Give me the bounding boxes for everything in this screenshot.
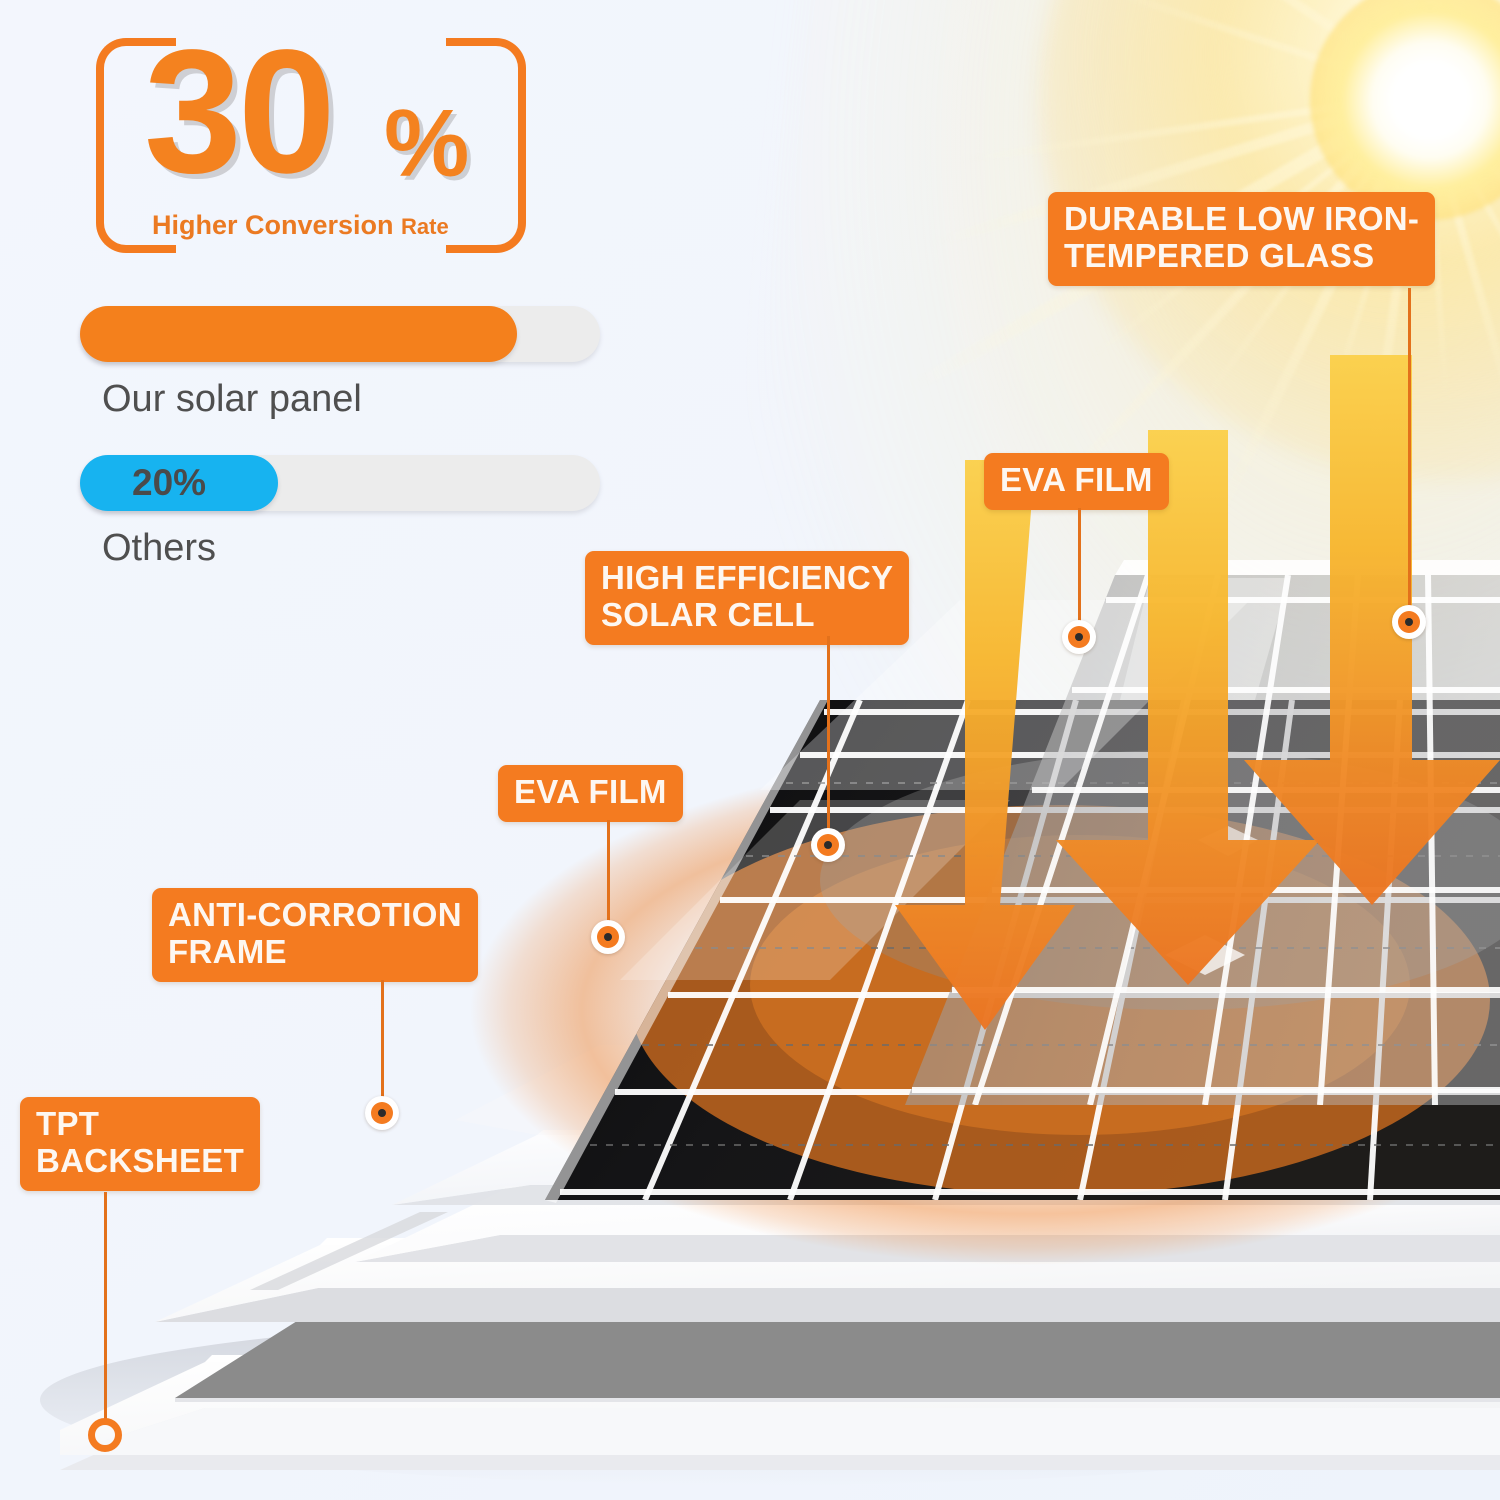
callout-backsheet[interactable]: TPT BACKSHEET — [20, 1097, 260, 1191]
callout-solar-cell-marker-icon[interactable] — [811, 828, 845, 862]
callout-eva-top-marker-icon[interactable] — [1062, 620, 1096, 654]
stat-number: 30 — [144, 24, 332, 200]
stat-subtitle-small: Rate — [401, 214, 449, 239]
stat-percent-sign: % — [384, 96, 469, 192]
callout-glass-marker-icon[interactable] — [1392, 605, 1426, 639]
callout-eva-bottom-marker-icon[interactable] — [591, 920, 625, 954]
bar-fill-others: 20% — [80, 455, 278, 511]
callout-frame-label: ANTI-CORROTION FRAME — [152, 888, 478, 982]
callout-solar-cell[interactable]: HIGH EFFICIENCY SOLAR CELL — [585, 551, 909, 645]
conversion-rate-stat: 30 % Higher Conversion Rate — [96, 38, 526, 253]
bar-track-others: 20% — [80, 455, 600, 511]
callout-eva-top[interactable]: EVA FILM — [984, 453, 1169, 510]
comparison-bars: Our solar panel 20% Others — [80, 306, 600, 570]
bar-caption-others: Others — [102, 527, 600, 570]
callout-eva-top-stem — [1078, 508, 1081, 626]
bar-value-others: 20% — [80, 462, 206, 504]
callout-solar-cell-stem — [827, 636, 830, 842]
stat-subtitle: Higher Conversion Rate — [152, 210, 449, 241]
callout-eva-bottom[interactable]: EVA FILM — [498, 765, 683, 822]
callout-eva-bottom-stem — [607, 820, 610, 926]
stat-subtitle-main: Higher Conversion — [152, 210, 401, 240]
callout-frame[interactable]: ANTI-CORROTION FRAME — [152, 888, 478, 982]
callout-frame-stem — [381, 980, 384, 1102]
bar-track-our-panel — [80, 306, 600, 362]
callout-solar-cell-label: HIGH EFFICIENCY SOLAR CELL — [585, 551, 909, 645]
callout-backsheet-label: TPT BACKSHEET — [20, 1097, 260, 1191]
callout-glass-label: DURABLE LOW IRON- TEMPERED GLASS — [1048, 192, 1435, 286]
callout-frame-marker-icon[interactable] — [365, 1096, 399, 1130]
callout-eva-bottom-label: EVA FILM — [498, 765, 683, 822]
bar-fill-our-panel — [80, 306, 517, 362]
infographic-canvas: 30 % Higher Conversion Rate Our solar pa… — [0, 0, 1500, 1500]
bar-caption-our-panel: Our solar panel — [102, 378, 600, 421]
callout-backsheet-marker-icon[interactable] — [88, 1418, 122, 1452]
callout-glass[interactable]: DURABLE LOW IRON- TEMPERED GLASS — [1048, 192, 1435, 286]
callout-eva-top-label: EVA FILM — [984, 453, 1169, 510]
callout-glass-stem — [1408, 288, 1411, 618]
callout-backsheet-stem — [104, 1192, 107, 1422]
